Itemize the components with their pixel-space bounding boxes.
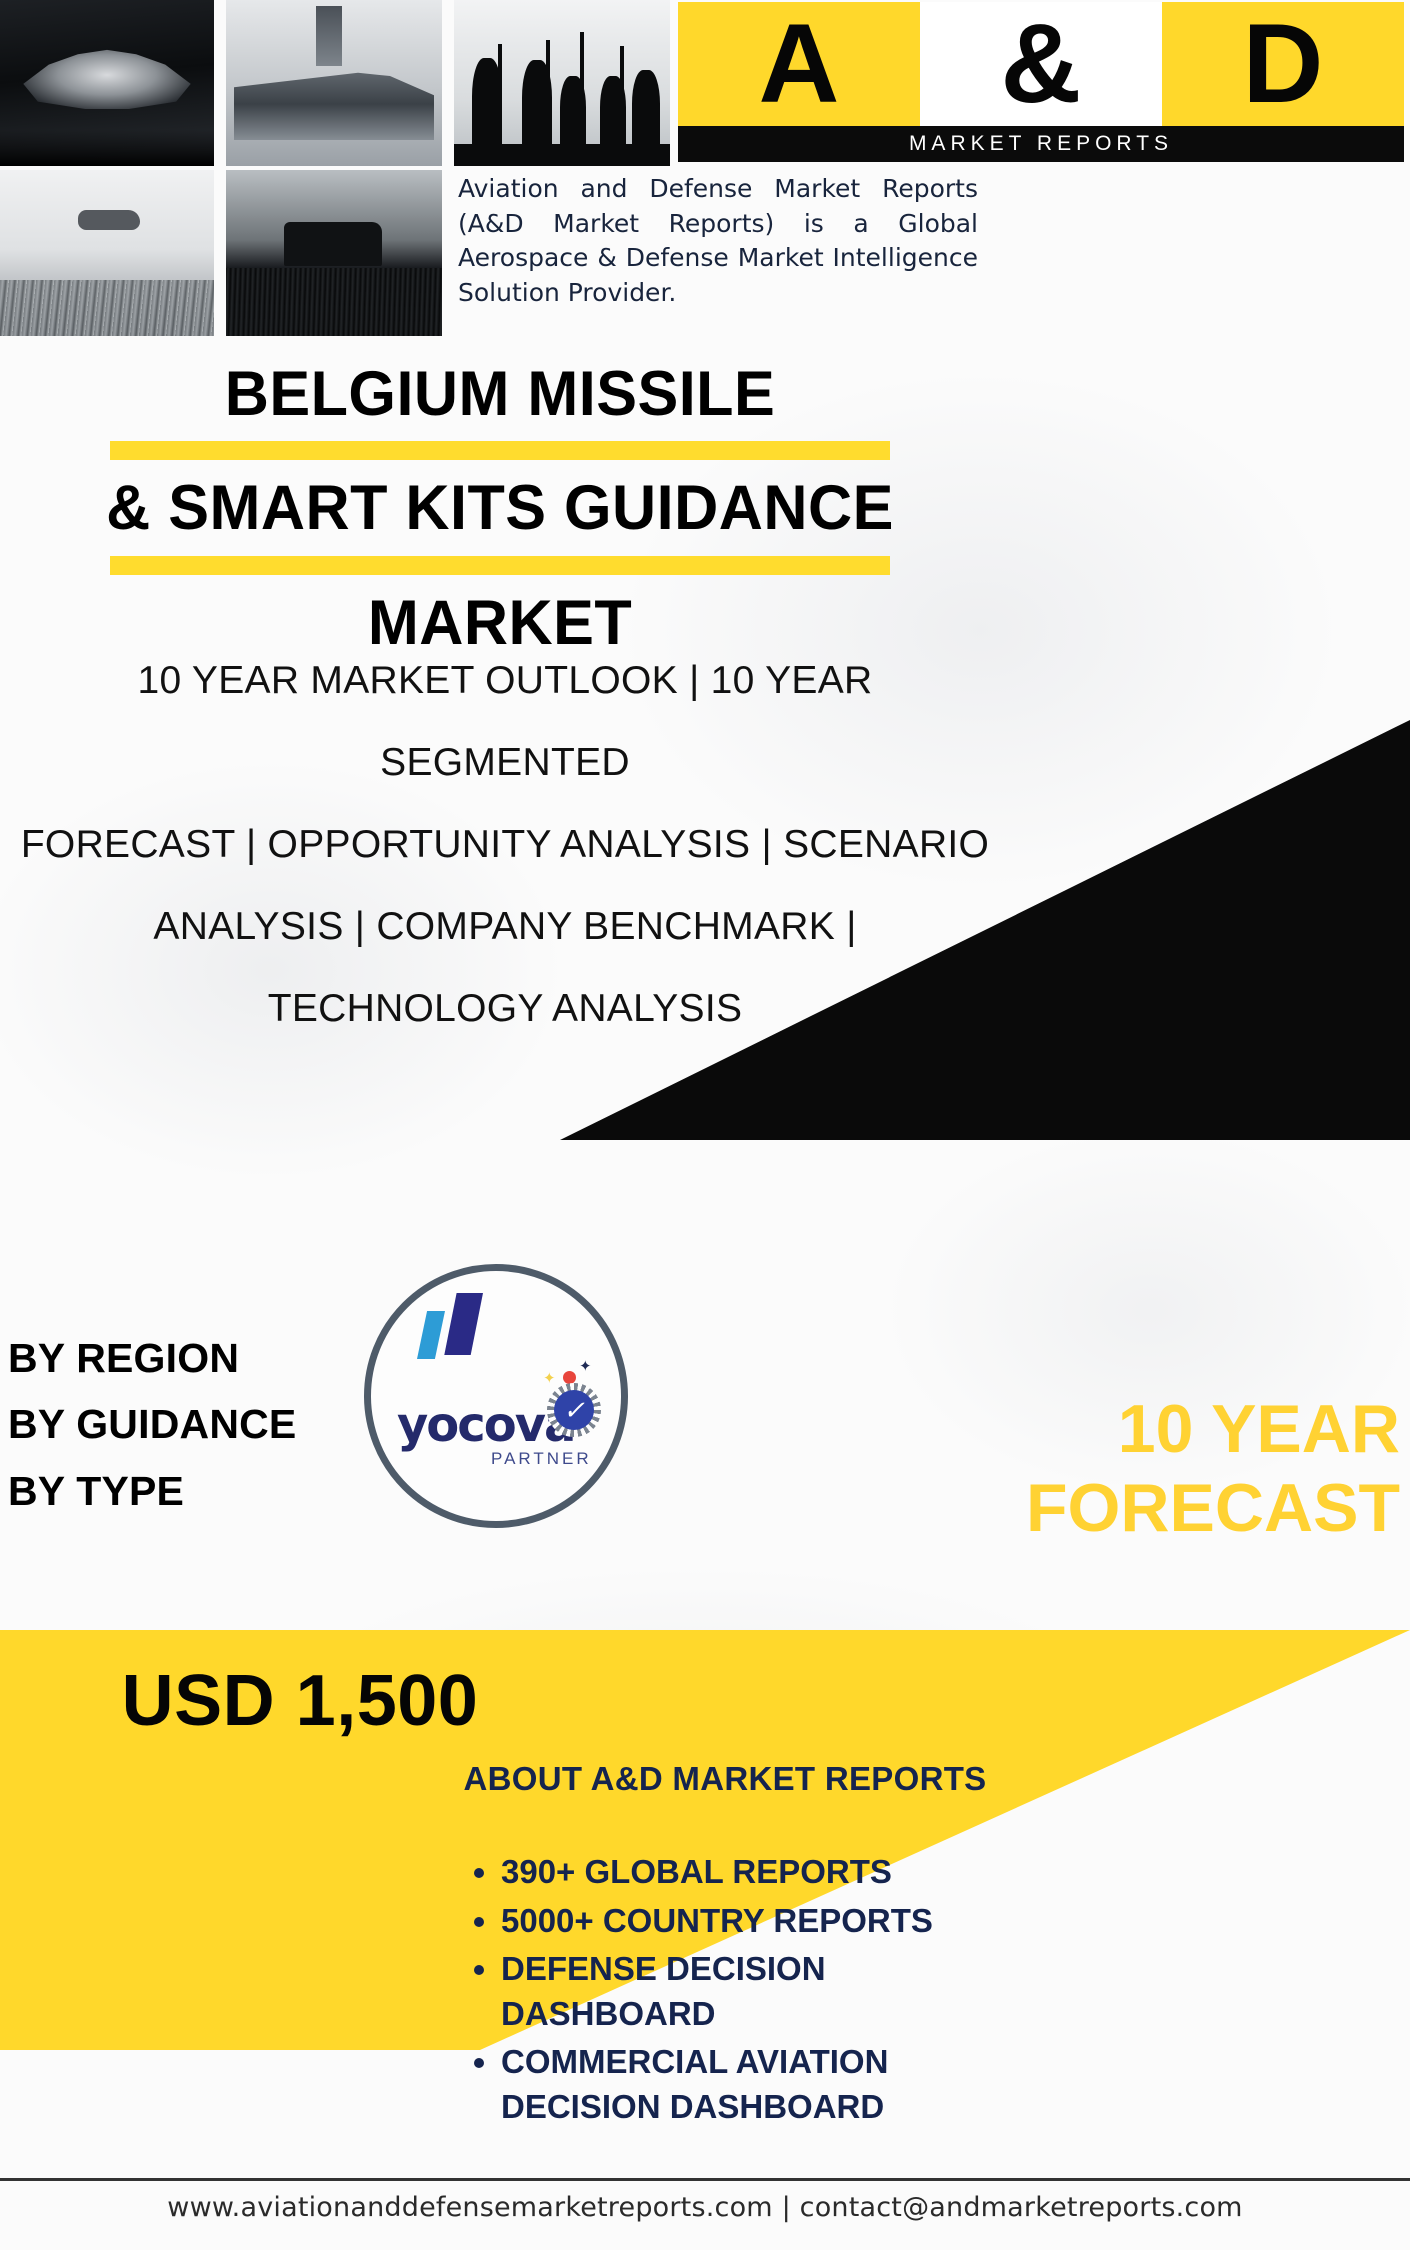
aircraft-carrier-photo <box>226 0 442 166</box>
list-item: 5000+ COUNTRY REPORTS <box>501 1899 995 1944</box>
price-value: USD 1,500 <box>0 1660 600 1742</box>
forecast-callout: 10 YEAR FORECAST <box>620 1390 1410 1548</box>
about-bullet-list: 390+ GLOBAL REPORTS 5000+ COUNTRY REPORT… <box>501 1850 995 2129</box>
about-heading: ABOUT A&D MARKET REPORTS <box>455 1760 995 1798</box>
yocova-partner-label: PARTNER <box>491 1449 592 1469</box>
logo-tagline: MARKET REPORTS <box>909 132 1173 156</box>
yocova-partner-badge: ✦✦ yocova PARTNER ✓ <box>364 1264 628 1528</box>
logo-tagline-bar: MARKET REPORTS <box>678 126 1404 162</box>
report-title: BELGIUM MISSILE & SMART KITS GUIDANCE MA… <box>0 358 1000 659</box>
report-scope-subtitle: 10 YEAR MARKET OUTLOOK | 10 YEAR SEGMENT… <box>20 640 990 1049</box>
soldiers-silhouette-photo <box>454 0 670 166</box>
forecast-line-2: FORECAST <box>620 1469 1400 1548</box>
helicopter-photo <box>0 170 214 336</box>
title-divider-bottom <box>110 556 890 575</box>
company-intro-paragraph: Aviation and Defense Market Reports (A&D… <box>458 172 978 310</box>
subtitle-line-3: ANALYSIS | COMPANY BENCHMARK | <box>20 886 990 968</box>
logo-letter-a: A <box>678 2 920 126</box>
subtitle-line-2: FORECAST | OPPORTUNITY ANALYSIS | SCENAR… <box>20 804 990 886</box>
logo-letter-d: D <box>1162 2 1404 126</box>
armored-vehicle-photo <box>226 170 442 336</box>
footer-divider <box>0 2178 1410 2181</box>
list-item: DEFENSE DECISION DASHBOARD <box>501 1947 995 2036</box>
about-heading-underline <box>455 1806 995 1812</box>
forecast-line-1: 10 YEAR <box>620 1390 1400 1469</box>
and-market-reports-logo: A & D MARKET REPORTS <box>678 2 1404 162</box>
subtitle-line-4: TECHNOLOGY ANALYSIS <box>20 968 990 1050</box>
logo-letter-ampersand: & <box>920 2 1162 126</box>
about-section: ABOUT A&D MARKET REPORTS 390+ GLOBAL REP… <box>455 1760 995 2133</box>
verified-check-icon: ✓ <box>547 1383 601 1437</box>
footer-contact[interactable]: www.aviationanddefensemarketreports.com … <box>0 2192 1410 2223</box>
title-divider-top <box>110 441 890 460</box>
subtitle-line-1: 10 YEAR MARKET OUTLOOK | 10 YEAR SEGMENT… <box>20 640 990 804</box>
yocova-chevron-icon <box>417 1293 491 1359</box>
list-item: 390+ GLOBAL REPORTS <box>501 1850 995 1895</box>
list-item: COMMERCIAL AVIATION DECISION DASHBOARD <box>501 2040 995 2129</box>
report-title-line-1: BELGIUM MISSILE <box>15 358 985 430</box>
report-title-line-2: & SMART KITS GUIDANCE <box>15 472 985 544</box>
fighter-jet-photo <box>0 0 214 166</box>
